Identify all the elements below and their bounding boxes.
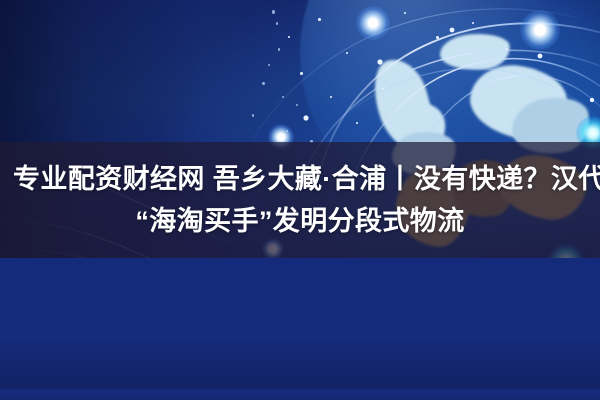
banner-image: 专业配资财经网 吾乡大藏·合浦丨没有快递？汉代 “海淘买手”发明分段式物流 <box>0 0 600 400</box>
bottom-strip <box>0 386 600 400</box>
bottom-plate <box>0 258 600 400</box>
caption-block: 专业配资财经网 吾乡大藏·合浦丨没有快递？汉代 “海淘买手”发明分段式物流 <box>0 142 600 258</box>
caption-line-2: “海淘买手”发明分段式物流 <box>135 201 464 241</box>
caption-line-1: 专业配资财经网 吾乡大藏·合浦丨没有快递？汉代 <box>13 159 600 199</box>
